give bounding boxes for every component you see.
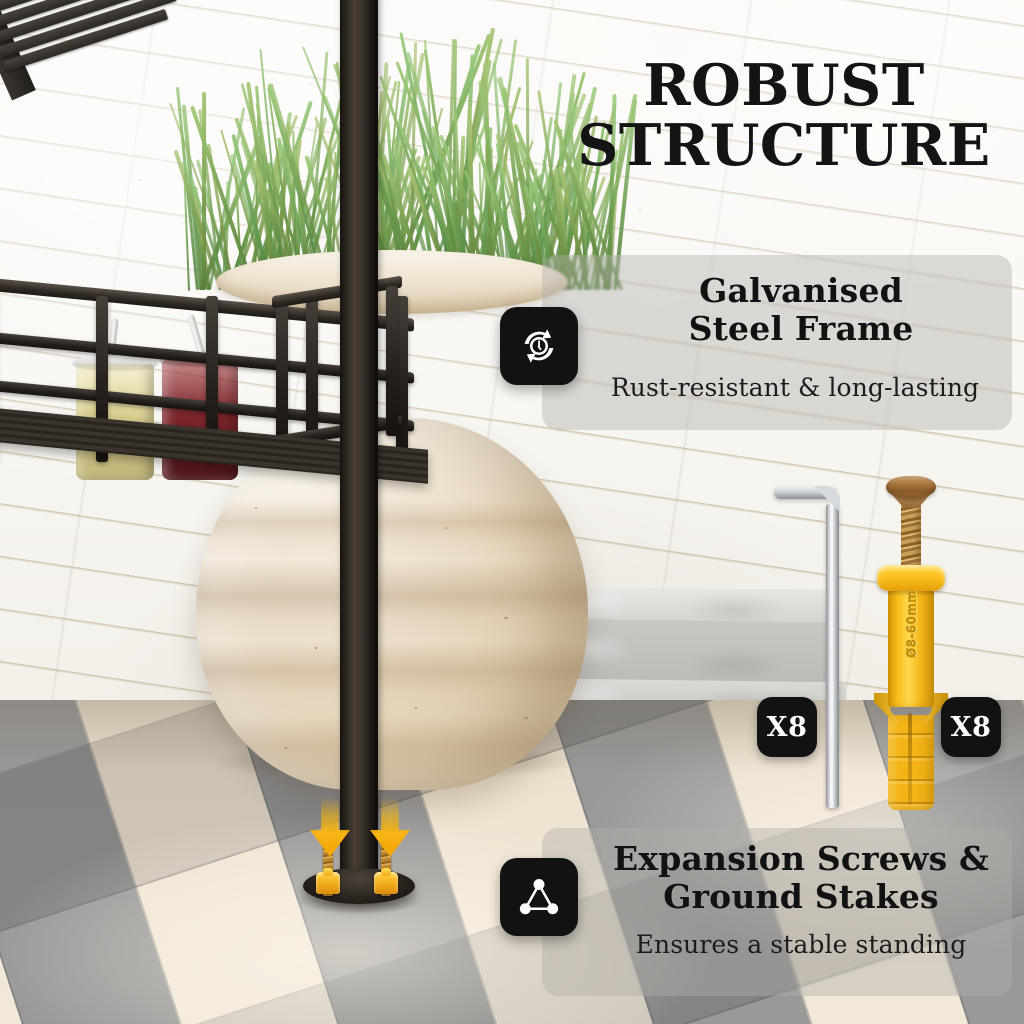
ground-stake-shaft: [826, 504, 839, 808]
plug-quantity-label: X8: [951, 712, 992, 743]
ground-stake: [826, 486, 840, 808]
feature-2-title-line-1: Expansion Screws &: [588, 840, 1014, 878]
feature-1-title: Galvanised Steel Frame: [596, 272, 1006, 347]
feature-2-title-line-2: Ground Stakes: [588, 878, 1014, 916]
expansion-plug-size-label: Ø8-60mm: [905, 586, 919, 662]
base-plug-right: [374, 872, 398, 894]
feature-2-subtitle: Ensures a stable standing: [588, 930, 1014, 959]
expansion-screw-head: [886, 476, 936, 498]
rotating-clock-icon: [500, 307, 578, 385]
shelf-bar: [272, 276, 402, 309]
stake-quantity-label: X8: [767, 712, 808, 743]
expansion-plug: Ø8-60mm: [884, 565, 938, 810]
expansion-plug-slot: [908, 713, 912, 805]
feature-2-title: Expansion Screws & Ground Stakes: [588, 840, 1014, 915]
product-feature-image: Ø8-60mm X8 X8 ROBUST STRUCTURE: [0, 0, 1024, 1024]
feature-1-title-line-2: Steel Frame: [596, 310, 1006, 348]
potted-rosemary-plant: [150, 10, 610, 290]
stake-quantity-badge: X8: [757, 697, 817, 757]
triangle-stability-icon: [500, 858, 578, 936]
plug-quantity-badge: X8: [941, 697, 1001, 757]
expansion-screw: [899, 476, 923, 576]
ground-stake-bend: [814, 486, 840, 512]
headline-line-2: STRUCTURE: [560, 116, 1008, 176]
base-plug-left: [316, 872, 340, 894]
feature-1-title-line-1: Galvanised: [596, 272, 1006, 310]
headline-line-1: ROBUST: [643, 52, 925, 119]
page-title: ROBUST STRUCTURE: [560, 56, 1008, 177]
pergola-post: [340, 0, 378, 892]
feature-1-subtitle: Rust-resistant & long-lasting: [580, 373, 1010, 402]
shelf-bar: [386, 286, 398, 436]
